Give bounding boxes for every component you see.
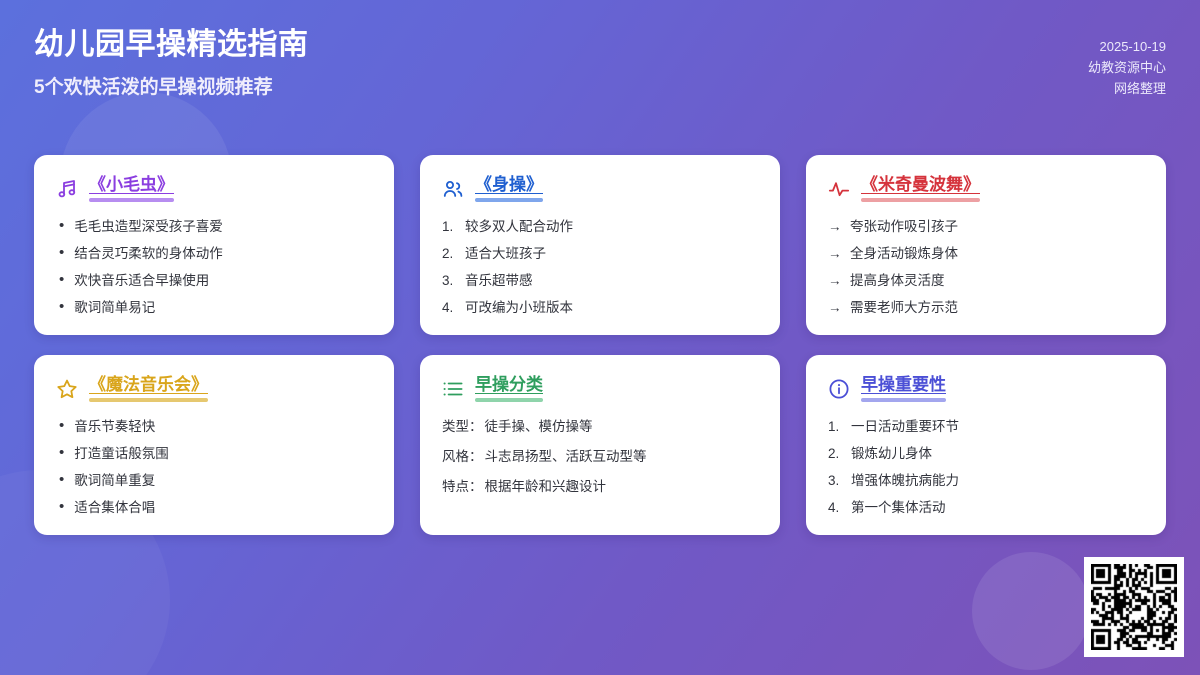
arrow-marker: → — [828, 245, 842, 262]
card-grid: 《小毛虫》•毛毛虫造型深受孩子喜爱•结合灵巧柔软的身体动作•欢快音乐适合早操使用… — [34, 155, 1168, 535]
list-item: 3.音乐超带感 — [442, 272, 758, 289]
bullet-marker: • — [59, 445, 64, 461]
list-item-text: 歌词简单易记 — [74, 299, 155, 316]
list-item: 4.第一个集体活动 — [828, 499, 1144, 516]
bullet-marker: • — [59, 299, 64, 315]
poster-header: 幼儿园早操精选指南 5个欢快活泼的早操视频推荐 2025-10-19 幼教资源中… — [0, 0, 1200, 130]
list-item-text: 结合灵巧柔软的身体动作 — [74, 245, 223, 262]
list-item: 类型：徒手操、模仿操等 — [442, 418, 758, 435]
list-item: 1.较多双人配合动作 — [442, 218, 758, 235]
bullet-marker: • — [59, 218, 64, 234]
arrow-marker: → — [828, 299, 842, 316]
kv-key: 风格： — [442, 448, 483, 465]
card-title[interactable]: 早操重要性 — [861, 375, 946, 395]
card-mofayinyuehui[interactable]: 《魔法音乐会》•音乐节奏轻快•打造童话般氛围•歌词简单重复•适合集体合唱 — [34, 355, 394, 535]
number-marker: 3. — [442, 272, 457, 289]
card-title[interactable]: 《小毛虫》 — [89, 175, 174, 195]
number-marker: 4. — [828, 499, 843, 516]
arrow-marker: → — [828, 218, 842, 235]
card-header: 《魔法音乐会》 — [56, 375, 372, 402]
list-item-text: 需要老师大方示范 — [850, 299, 958, 316]
list-item: •毛毛虫造型深受孩子喜爱 — [56, 218, 372, 235]
card-title[interactable]: 《魔法音乐会》 — [89, 375, 208, 395]
card-title[interactable]: 早操分类 — [475, 375, 543, 395]
header-meta: 2025-10-19 幼教资源中心 网络整理 — [1088, 26, 1166, 99]
kv-value: 斗志昂扬型、活跃互动型等 — [485, 448, 647, 465]
list-item: •音乐节奏轻快 — [56, 418, 372, 435]
list-item-text: 锻炼幼儿身体 — [851, 445, 932, 462]
header-source: 幼教资源中心 — [1088, 57, 1166, 78]
list-item: •打造童话般氛围 — [56, 445, 372, 462]
page-subtitle: 5个欢快活泼的早操视频推荐 — [34, 76, 309, 101]
list-item-text: 毛毛虫造型深受孩子喜爱 — [74, 218, 223, 235]
qr-code[interactable] — [1084, 557, 1184, 657]
card-title-underline — [89, 398, 208, 402]
list-item: →需要老师大方示范 — [828, 299, 1144, 316]
card-shencao[interactable]: 《身操》1.较多双人配合动作2.适合大班孩子3.音乐超带感4.可改编为小班版本 — [420, 155, 780, 335]
list-item-text: 第一个集体活动 — [851, 499, 946, 516]
page-title: 幼儿园早操精选指南 — [34, 26, 309, 64]
activity-pulse-icon — [828, 178, 850, 200]
card-title[interactable]: 《身操》 — [475, 175, 543, 195]
header-date: 2025-10-19 — [1100, 36, 1167, 57]
list-item-text: 夸张动作吸引孩子 — [850, 218, 958, 235]
list-item: →全身活动锻炼身体 — [828, 245, 1144, 262]
kv-key: 特点： — [442, 478, 483, 495]
kv-value: 徒手操、模仿操等 — [485, 418, 593, 435]
list-item: 1.一日活动重要环节 — [828, 418, 1144, 435]
card-header: 《小毛虫》 — [56, 175, 372, 202]
bullet-marker: • — [59, 499, 64, 515]
list-item-text: 适合大班孩子 — [465, 245, 546, 262]
card-title-underline — [861, 398, 946, 402]
list-item-text: 全身活动锻炼身体 — [850, 245, 958, 262]
poster-canvas: 幼儿园早操精选指南 5个欢快活泼的早操视频推荐 2025-10-19 幼教资源中… — [0, 0, 1200, 675]
list-icon — [442, 378, 464, 400]
bullet-marker: • — [59, 472, 64, 488]
list-item: 特点：根据年龄和兴趣设计 — [442, 478, 758, 495]
header-left: 幼儿园早操精选指南 5个欢快活泼的早操视频推荐 — [34, 26, 309, 100]
list-item-text: 音乐节奏轻快 — [74, 418, 155, 435]
number-marker: 1. — [442, 218, 457, 235]
list-item-text: 适合集体合唱 — [74, 499, 155, 516]
card-title-wrap: 早操重要性 — [861, 375, 946, 402]
music-note-icon — [56, 178, 78, 200]
bullet-marker: • — [59, 418, 64, 434]
list-item-text: 较多双人配合动作 — [465, 218, 573, 235]
list-item: •结合灵巧柔软的身体动作 — [56, 245, 372, 262]
list-item-text: 歌词简单重复 — [74, 472, 155, 489]
list-item: →提高身体灵活度 — [828, 272, 1144, 289]
card-header: 《米奇曼波舞》 — [828, 175, 1144, 202]
list-item-text: 一日活动重要环节 — [851, 418, 959, 435]
card-xiaomaochong[interactable]: 《小毛虫》•毛毛虫造型深受孩子喜爱•结合灵巧柔软的身体动作•欢快音乐适合早操使用… — [34, 155, 394, 335]
header-note: 网络整理 — [1114, 78, 1166, 99]
list-item-text: 打造童话般氛围 — [74, 445, 169, 462]
card-title-wrap: 《魔法音乐会》 — [89, 375, 208, 402]
arrow-marker: → — [828, 272, 842, 289]
bullet-marker: • — [59, 245, 64, 261]
card-title-wrap: 《小毛虫》 — [89, 175, 174, 202]
card-title-underline — [475, 398, 543, 402]
number-marker: 3. — [828, 472, 843, 489]
list-item: •歌词简单易记 — [56, 299, 372, 316]
list-item-text: 增强体魄抗病能力 — [851, 472, 959, 489]
list-item: •欢快音乐适合早操使用 — [56, 272, 372, 289]
card-header: 早操分类 — [442, 375, 758, 402]
list-item: •适合集体合唱 — [56, 499, 372, 516]
card-title-wrap: 《身操》 — [475, 175, 543, 202]
list-item: →夸张动作吸引孩子 — [828, 218, 1144, 235]
card-miqimanbowu[interactable]: 《米奇曼波舞》→夸张动作吸引孩子→全身活动锻炼身体→提高身体灵活度→需要老师大方… — [806, 155, 1166, 335]
card-body: →夸张动作吸引孩子→全身活动锻炼身体→提高身体灵活度→需要老师大方示范 — [828, 218, 1144, 316]
list-item: 4.可改编为小班版本 — [442, 299, 758, 316]
card-header: 早操重要性 — [828, 375, 1144, 402]
list-item-text: 欢快音乐适合早操使用 — [74, 272, 209, 289]
card-body: •音乐节奏轻快•打造童话般氛围•歌词简单重复•适合集体合唱 — [56, 418, 372, 516]
card-body: 类型：徒手操、模仿操等风格：斗志昂扬型、活跃互动型等特点：根据年龄和兴趣设计 — [442, 418, 758, 495]
card-title-underline — [89, 198, 174, 202]
list-item: 2.适合大班孩子 — [442, 245, 758, 262]
kv-value: 根据年龄和兴趣设计 — [485, 478, 607, 495]
card-title[interactable]: 《米奇曼波舞》 — [861, 175, 980, 195]
number-marker: 2. — [442, 245, 457, 262]
card-body: 1.一日活动重要环节2.锻炼幼儿身体3.增强体魄抗病能力4.第一个集体活动 — [828, 418, 1144, 516]
card-header: 《身操》 — [442, 175, 758, 202]
card-title-wrap: 《米奇曼波舞》 — [861, 175, 980, 202]
list-item: 3.增强体魄抗病能力 — [828, 472, 1144, 489]
number-marker: 1. — [828, 418, 843, 435]
card-zaocao-zhongyaoxing[interactable]: 早操重要性1.一日活动重要环节2.锻炼幼儿身体3.增强体魄抗病能力4.第一个集体… — [806, 355, 1166, 535]
card-title-wrap: 早操分类 — [475, 375, 543, 402]
info-circle-icon — [828, 378, 850, 400]
decorative-circle-bottom-right — [972, 552, 1090, 670]
bullet-marker: • — [59, 272, 64, 288]
star-icon — [56, 378, 78, 400]
list-item: 风格：斗志昂扬型、活跃互动型等 — [442, 448, 758, 465]
list-item-text: 可改编为小班版本 — [465, 299, 573, 316]
kv-key: 类型： — [442, 418, 483, 435]
card-body: •毛毛虫造型深受孩子喜爱•结合灵巧柔软的身体动作•欢快音乐适合早操使用•歌词简单… — [56, 218, 372, 316]
number-marker: 2. — [828, 445, 843, 462]
list-item: •歌词简单重复 — [56, 472, 372, 489]
card-zaocao-fenlei[interactable]: 早操分类类型：徒手操、模仿操等风格：斗志昂扬型、活跃互动型等特点：根据年龄和兴趣… — [420, 355, 780, 535]
list-item: 2.锻炼幼儿身体 — [828, 445, 1144, 462]
number-marker: 4. — [442, 299, 457, 316]
list-item-text: 提高身体灵活度 — [850, 272, 945, 289]
list-item-text: 音乐超带感 — [465, 272, 533, 289]
card-title-underline — [475, 198, 543, 202]
people-icon — [442, 178, 464, 200]
card-title-underline — [861, 198, 980, 202]
card-body: 1.较多双人配合动作2.适合大班孩子3.音乐超带感4.可改编为小班版本 — [442, 218, 758, 316]
